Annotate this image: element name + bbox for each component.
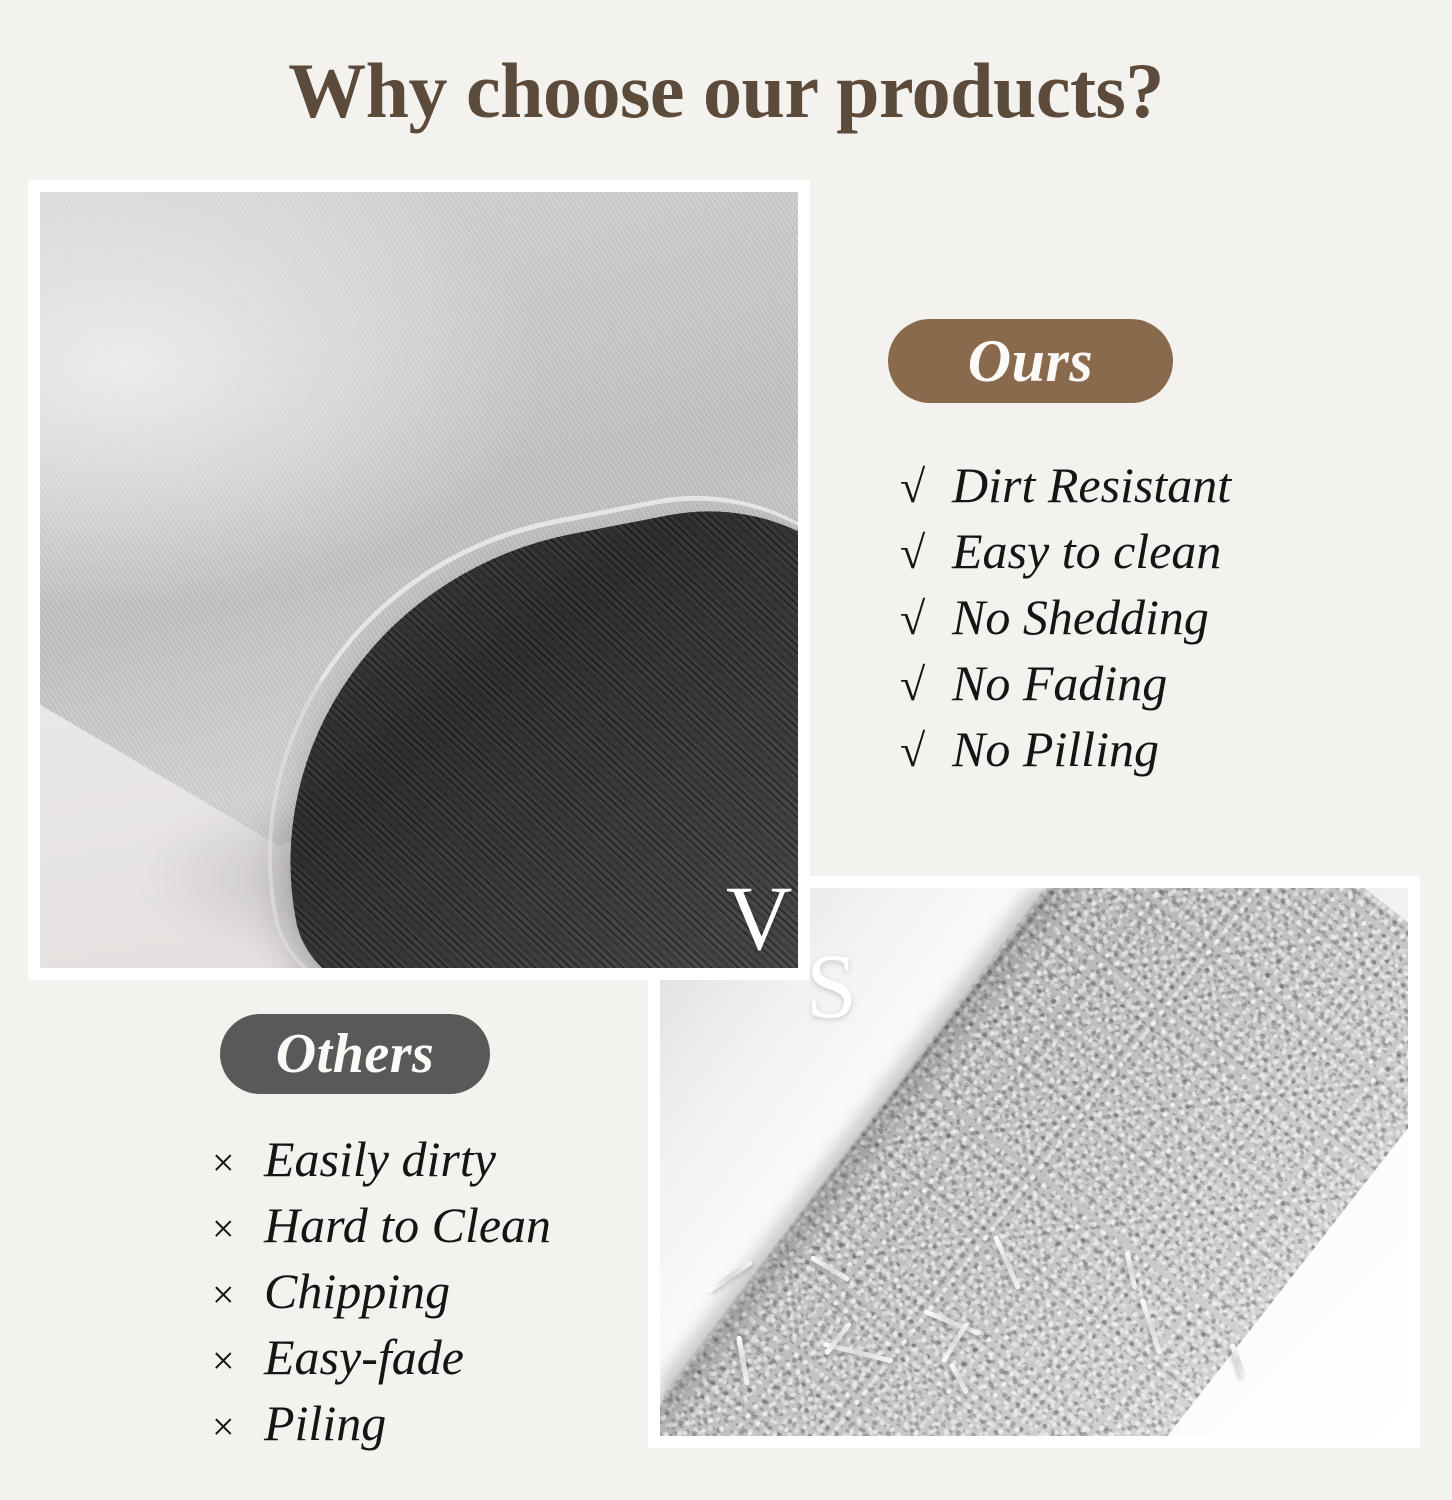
others-feature-label: Easy-fade <box>264 1324 464 1390</box>
list-item: × Easy-fade <box>212 1324 551 1390</box>
ours-feature-label: Easy to clean <box>952 518 1221 584</box>
others-feature-label: Hard to Clean <box>264 1192 551 1258</box>
cross-icon: × <box>212 1335 246 1388</box>
ours-feature-label: No Fading <box>952 650 1167 716</box>
ours-feature-label: No Shedding <box>952 584 1209 650</box>
check-icon: √ <box>900 457 934 518</box>
mat-scene <box>40 192 798 968</box>
cross-icon: × <box>212 1401 246 1454</box>
ours-feature-list: √ Dirt Resistant √ Easy to clean √ No Sh… <box>900 452 1231 782</box>
others-feature-label: Chipping <box>264 1258 450 1324</box>
others-feature-label: Easily dirty <box>264 1126 496 1192</box>
ours-mat-photo-image <box>40 192 798 968</box>
page-title: Why choose our products? <box>0 52 1452 130</box>
cross-icon: × <box>212 1203 246 1256</box>
others-badge: Others <box>220 1014 490 1094</box>
cross-icon: × <box>212 1269 246 1322</box>
check-icon: √ <box>900 589 934 650</box>
list-item: × Easily dirty <box>212 1126 551 1192</box>
others-feature-label: Piling <box>264 1390 386 1456</box>
ours-badge-label: Ours <box>968 327 1093 396</box>
check-icon: √ <box>900 655 934 716</box>
others-badge-label: Others <box>276 1022 435 1086</box>
list-item: √ No Fading <box>900 650 1231 716</box>
vs-letter-v: V <box>726 872 792 964</box>
list-item: √ Easy to clean <box>900 518 1231 584</box>
check-icon: √ <box>900 523 934 584</box>
ours-badge: Ours <box>888 319 1173 403</box>
ours-feature-label: No Pilling <box>952 716 1159 782</box>
list-item: × Piling <box>212 1390 551 1456</box>
ours-mat-photo <box>28 180 810 980</box>
comparison-infographic: Why choose our products? <box>0 0 1452 1500</box>
list-item: √ No Pilling <box>900 716 1231 782</box>
list-item: × Hard to Clean <box>212 1192 551 1258</box>
list-item: √ No Shedding <box>900 584 1231 650</box>
others-feature-list: × Easily dirty × Hard to Clean × Chippin… <box>212 1126 551 1456</box>
cross-icon: × <box>212 1137 246 1190</box>
list-item: √ Dirt Resistant <box>900 452 1231 518</box>
list-item: × Chipping <box>212 1258 551 1324</box>
check-icon: √ <box>900 721 934 782</box>
vs-letter-s: S <box>806 940 857 1032</box>
ours-feature-label: Dirt Resistant <box>952 452 1231 518</box>
